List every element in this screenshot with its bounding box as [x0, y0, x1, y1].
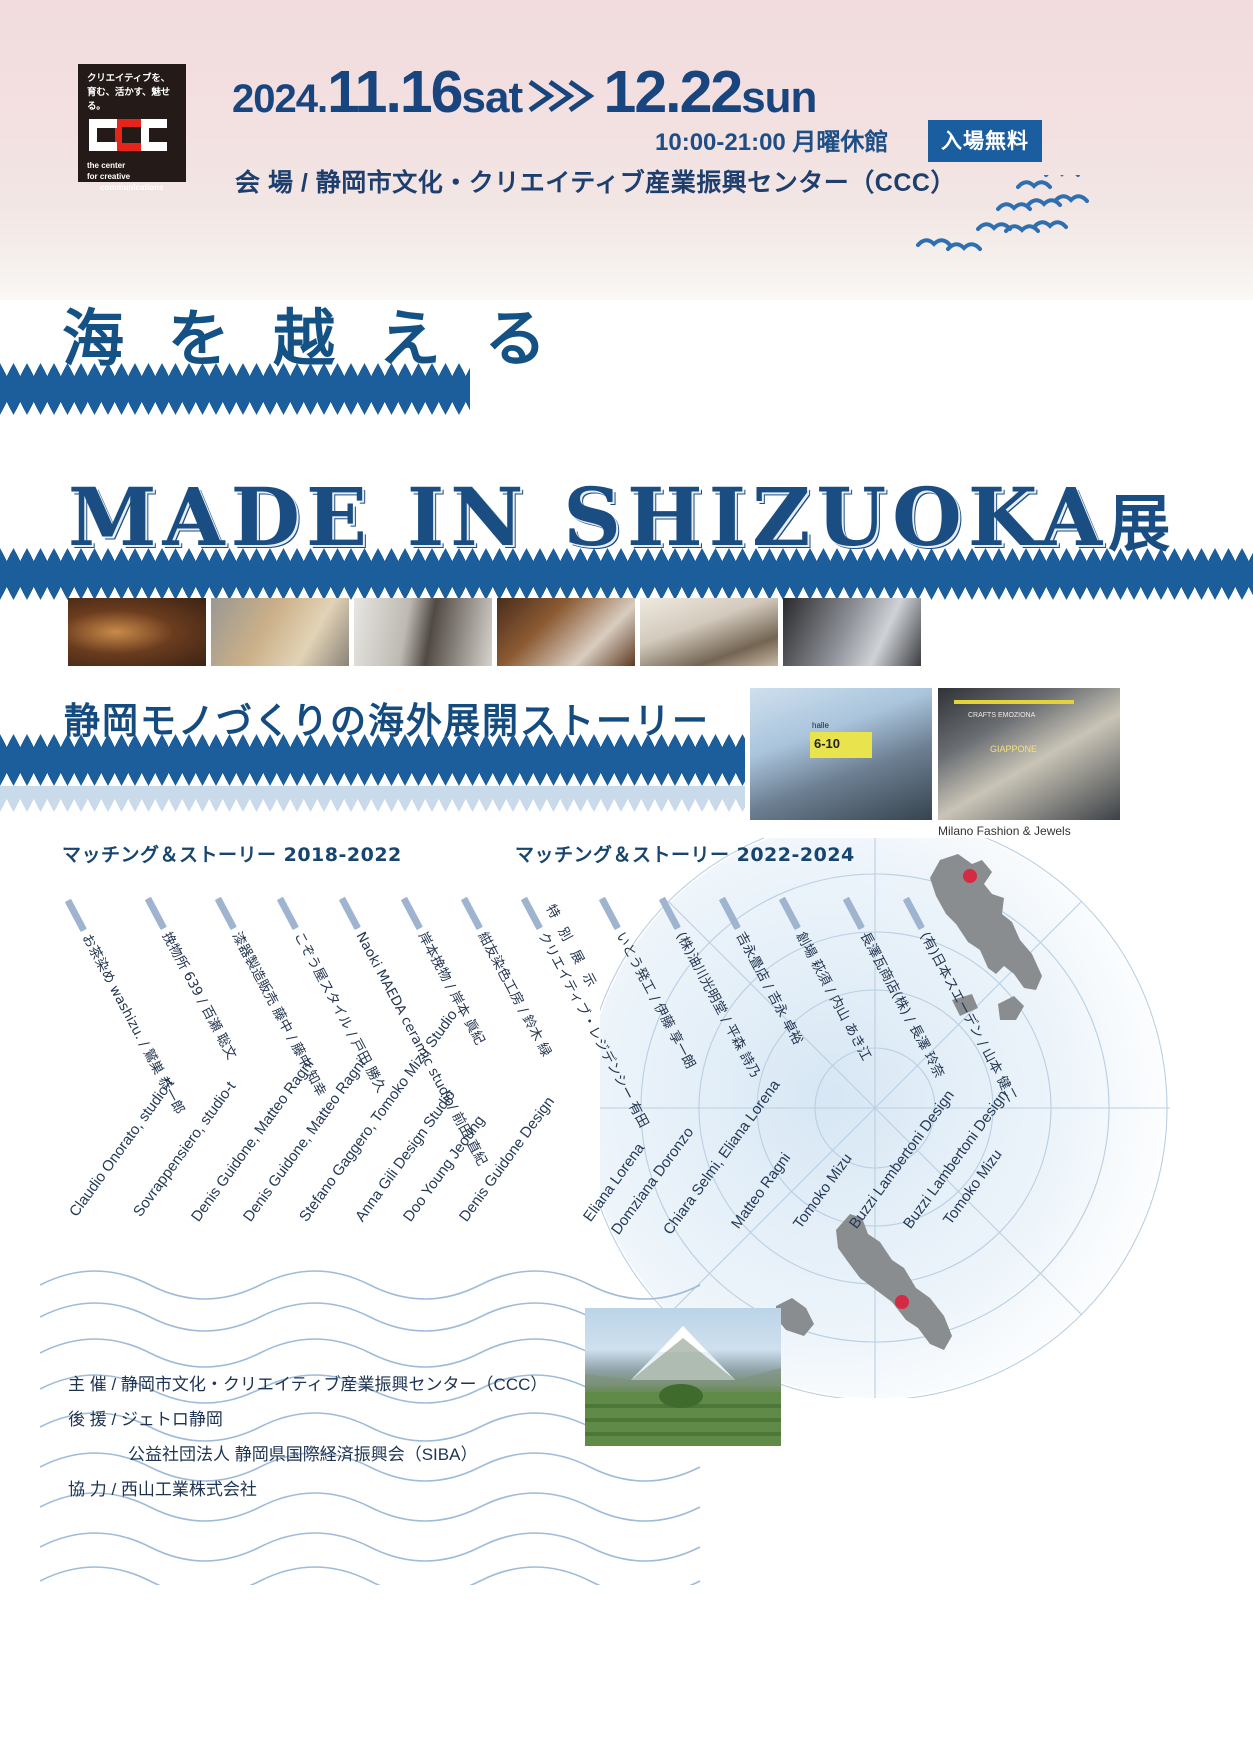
label-bar-icon [339, 897, 361, 930]
label-bar-icon [277, 897, 299, 930]
product-photo-3 [354, 598, 492, 666]
label-bar-icon [215, 897, 237, 930]
event-hours: 10:00-21:00 月曜休館 [655, 122, 888, 157]
matching-label-en-1: Claudio Onorato, studio-t [66, 1075, 178, 1220]
fair-photo-craft-exhibition: CRAFTS EMOZIONA GIAPPONE [938, 688, 1120, 820]
product-photo-6 [783, 598, 921, 666]
event-end-day: sun [741, 73, 816, 122]
event-venue: 会 場 / 静岡市文化・クリエイティブ産業振興センター（CCC） [235, 163, 956, 199]
credit-row-3: 公益社団法人 静岡県国際経済振興会（SIBA） [68, 1438, 547, 1473]
flying-birds-decoration-icon [900, 175, 1090, 280]
event-date-range: 2024.11.16sat 12.22sun [232, 58, 816, 126]
free-admission-badge: 入場無料 [928, 120, 1042, 162]
credit-value-4: / 西山工業株式会社 [111, 1480, 256, 1499]
label-bar-icon [145, 897, 167, 930]
double-chevron-right-icon [526, 76, 604, 116]
logo-subtitle: the center for creative communications [87, 161, 179, 193]
product-photo-5 [640, 598, 778, 666]
credit-label-4: 協 力 [68, 1480, 107, 1499]
fair-photo-caption: Milano Fashion & Jewels [938, 824, 1071, 838]
triangle-band-bottom [0, 734, 745, 814]
credit-row-4: 協 力 / 西山工業株式会社 [68, 1473, 547, 1508]
section-heading-2018-2022: マッチング＆ストーリー 2018-2022 [62, 840, 402, 867]
credit-label-1: 主 催 [68, 1375, 107, 1394]
triangle-band-mid [0, 548, 1253, 600]
credit-label-2: 後 援 [68, 1410, 107, 1429]
japan-location-marker [895, 1295, 909, 1309]
matching-label-jp-4: こぞう屋スタイル / 戸田 勝久 [272, 893, 392, 1095]
ccc-logo-mark-icon [89, 117, 173, 157]
event-year: 2024. [232, 77, 327, 121]
credit-row-1: 主 催 / 静岡市文化・クリエイティブ産業振興センター（CCC） [68, 1368, 547, 1403]
label-bar-icon [461, 897, 483, 930]
logo-sub-line2: for creative [87, 172, 179, 183]
product-photo-2 [211, 598, 349, 666]
label-bar-icon [65, 899, 87, 932]
event-start-day: sat [462, 73, 523, 122]
mount-fuji-photo [585, 1308, 781, 1446]
triangle-band-top [0, 363, 470, 415]
ccc-logo: クリエイティブを、 育む、活かす、魅せる。 the center for cre… [78, 64, 186, 182]
logo-sub-line3: communications [87, 183, 179, 194]
event-end-date: 12.22 [604, 59, 742, 125]
logo-tagline-line1: クリエイティブを、 [87, 73, 170, 84]
credits-block: 主 催 / 静岡市文化・クリエイティブ産業振興センター（CCC） 後 援 / ジ… [68, 1368, 547, 1507]
section-heading-2022-2024: マッチング＆ストーリー 2022-2024 [515, 840, 855, 867]
italy-location-marker [963, 869, 977, 883]
credit-row-2: 後 援 / ジェトロ静岡 [68, 1403, 547, 1438]
event-start-date: 11.16 [327, 59, 461, 125]
logo-sub-line1: the center [87, 161, 179, 172]
logo-tagline: クリエイティブを、 育む、活かす、魅せる。 [87, 72, 179, 113]
product-photo-strip [68, 598, 921, 666]
label-bar-icon [521, 897, 543, 930]
product-photo-4 [497, 598, 635, 666]
credit-value-2: / ジェトロ静岡 [111, 1410, 222, 1429]
credit-value-3: 公益社団法人 静岡県国際経済振興会（SIBA） [128, 1445, 477, 1464]
product-photo-1 [68, 598, 206, 666]
label-bar-icon [401, 897, 423, 930]
poster-root: クリエイティブを、 育む、活かす、魅せる。 the center for cre… [0, 0, 1253, 1749]
logo-tagline-line2: 育む、活かす、魅せる。 [87, 87, 170, 112]
fair-photo-halle: 6-10 halle [750, 688, 932, 820]
credit-value-1: / 静岡市文化・クリエイティブ産業振興センター（CCC） [111, 1375, 547, 1394]
